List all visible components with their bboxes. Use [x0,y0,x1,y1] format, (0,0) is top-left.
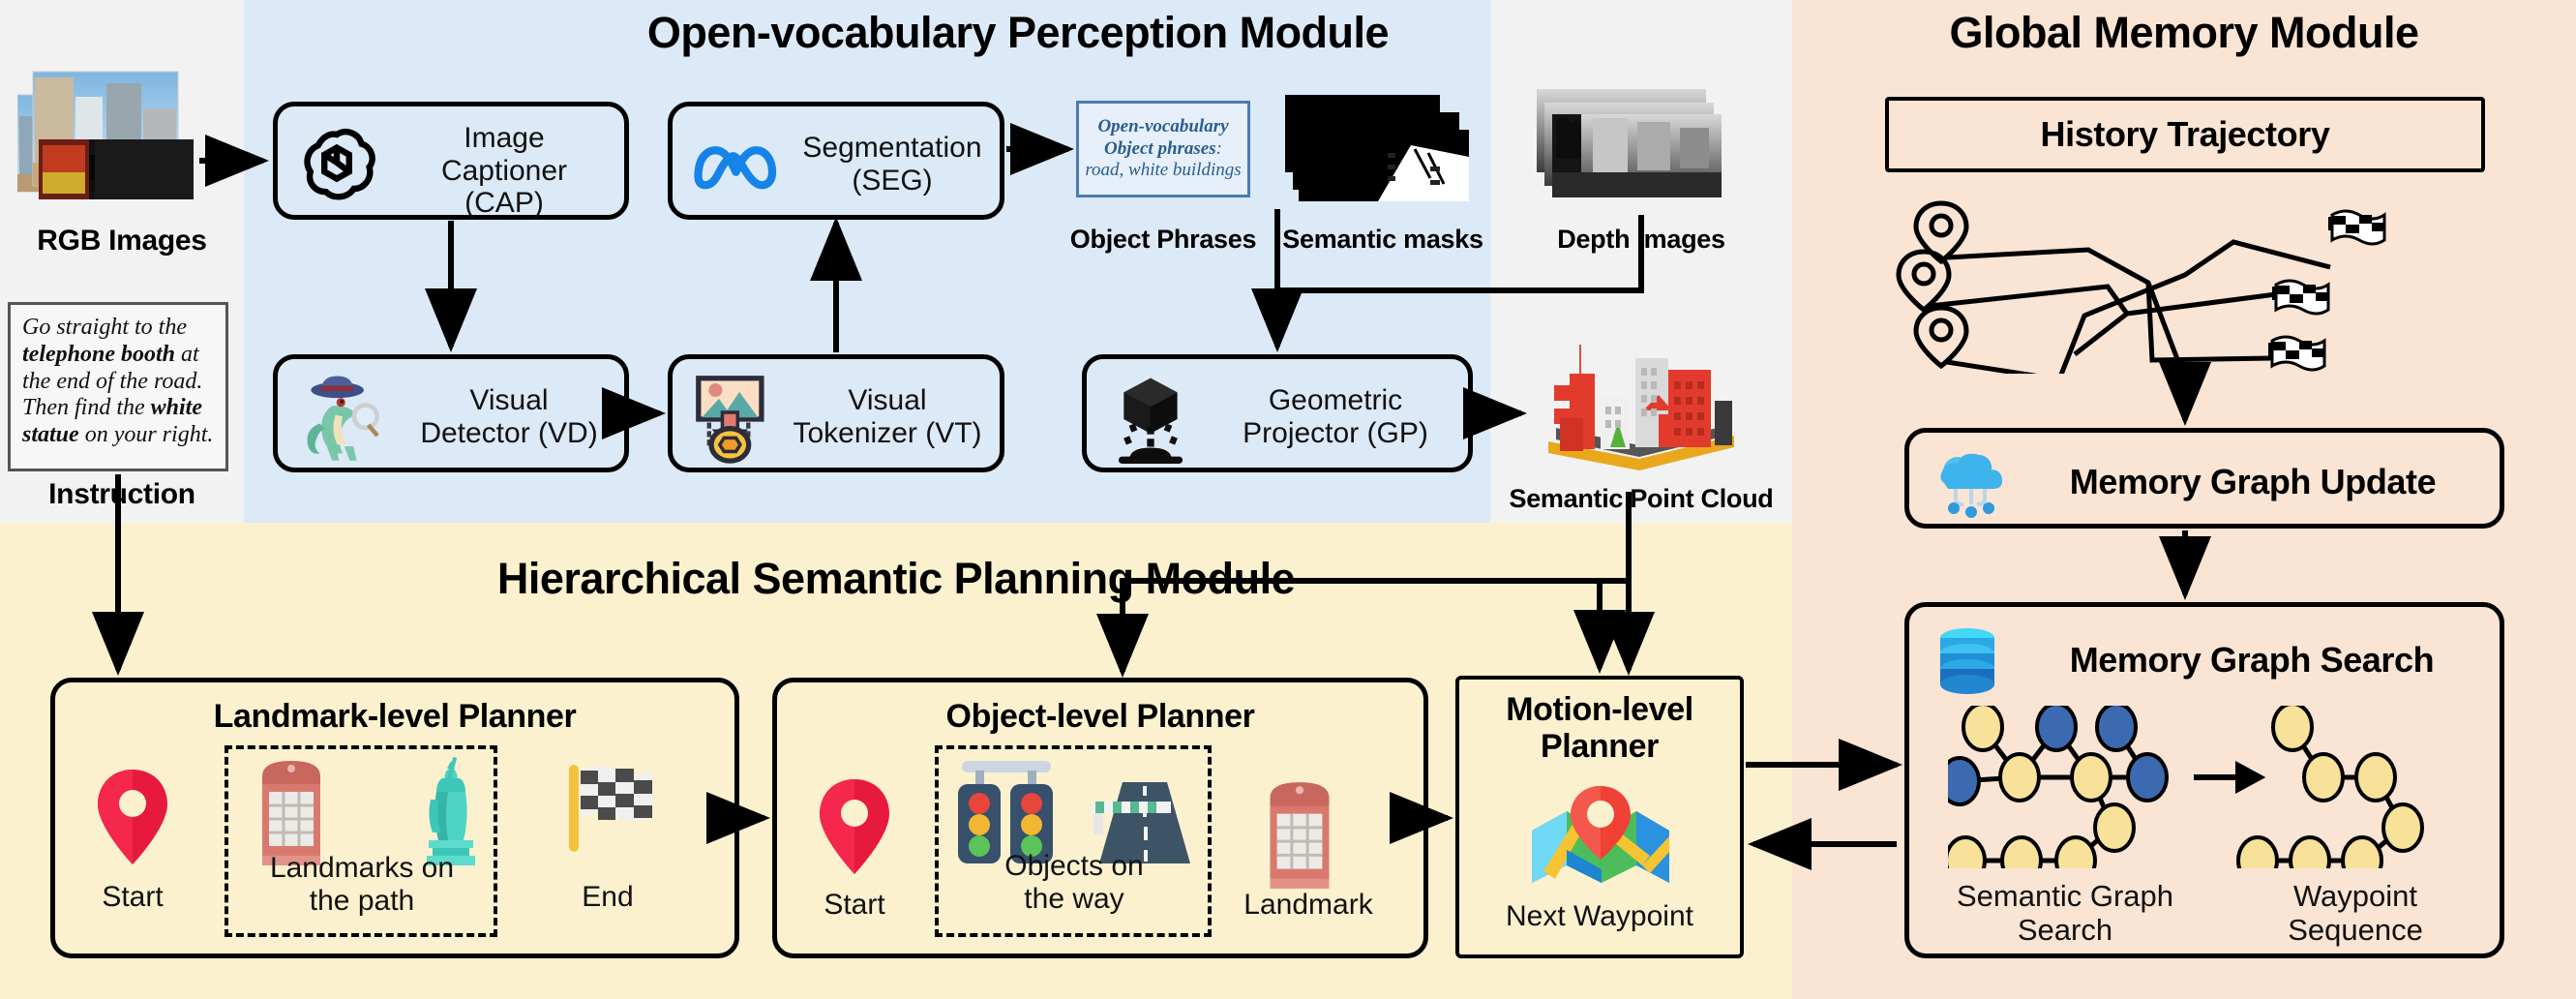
vt-line2: Tokenizer (VT) [773,417,1002,450]
visual-tokenizer-block[interactable]: Visual Tokenizer (VT) [668,354,1004,472]
history-trajectory-box[interactable]: History Trajectory [1885,97,2485,172]
map-pin-icon [91,765,174,871]
memory-graph-update-block[interactable]: Memory Graph Update [1904,428,2504,529]
visual-tokenizer-label: Visual Tokenizer (VT) [773,384,1002,449]
object-phrases-text: Open-vocabularyObject phrases:road, whit… [1085,116,1241,181]
rgb-images-caption: RGB Images [0,225,244,257]
object-phrases-caption: Object Phrases [1055,225,1272,255]
image-captioner-block[interactable]: Image Captioner (CAP) [273,102,629,220]
cloud-upload-icon [1932,446,2010,520]
landmark-planner-title: Landmark-level Planner [55,698,734,736]
objects-on-way-line1: Objects on [943,850,1206,883]
next-waypoint-label: Next Waypoint [1455,900,1744,933]
sgs-line1: Semantic Graph [1944,880,2186,914]
cap-line3: (CAP) [386,187,622,220]
landmark-end-label: End [550,881,666,914]
semantic-graph-search-caption: Semantic Graph Search [1944,880,2186,947]
landmarks-on-path-label: Landmarks on the path [232,852,492,917]
gp-line1: Geometric [1201,384,1470,417]
vd-line2: Detector (VD) [396,417,622,450]
memory-graph-search-block[interactable]: Memory Graph Search [1904,602,2504,958]
wps-line2: Sequence [2234,914,2476,948]
landmark-start-label: Start [72,881,194,914]
semantic-masks-caption: Semantic masks [1275,225,1490,255]
graph-illustration [1948,706,2471,868]
waypoint-sequence-caption: Waypoint Sequence [2234,880,2476,947]
seg-line2: (SEG) [785,165,1000,197]
wps-line1: Waypoint [2234,880,2476,914]
architecture-diagram: Open-vocabulary Perception Module Hierar… [0,0,2576,999]
motion-planner-title-line2: Planner [1459,728,1740,766]
object-start-label: Start [794,889,915,922]
cube-projector-icon [1104,373,1197,466]
visual-detector-block[interactable]: Visual Detector (VD) [273,354,629,472]
motion-planner-title-line1: Motion-level [1459,691,1740,729]
checkered-flag-icon [561,761,658,858]
database-icon [1932,624,2002,698]
cap-line2: Captioner [386,155,622,188]
planning-module-title: Hierarchical Semantic Planning Module [0,554,1792,604]
object-landmark-label: Landmark [1231,889,1386,922]
image-token-icon [688,373,777,466]
geometric-projector-label: Geometric Projector (GP) [1201,384,1470,449]
vt-line1: Visual [773,384,1002,417]
semantic-point-cloud-thumbnail [1527,325,1754,480]
visual-detector-label: Visual Detector (VD) [396,384,622,449]
object-planner-title: Object-level Planner [777,698,1423,736]
depth-images-caption: Depth Images [1529,225,1753,255]
segmentation-block[interactable]: Segmentation (SEG) [668,102,1004,220]
telephone-booth-icon [1256,774,1343,894]
semantic-masks-thumbnail [1285,95,1479,207]
memory-graph-search-label: Memory Graph Search [2010,640,2494,681]
object-phrases-box: Open-vocabularyObject phrases:road, whit… [1076,101,1250,197]
instruction-caption: Instruction [0,478,244,511]
landmarks-on-path-line1: Landmarks on [232,852,492,885]
cap-line1: Image [386,122,622,155]
history-trajectory-label: History Trajectory [1889,114,2481,155]
depth-images-thumbnail [1537,89,1745,205]
objects-on-way-line2: the way [943,883,1206,916]
sgs-line2: Search [1944,914,2186,948]
memory-graph-update-label: Memory Graph Update [2016,462,2490,502]
landmarks-on-path-line2: the path [232,885,492,918]
gp-line2: Projector (GP) [1201,417,1470,450]
perception-module-title: Open-vocabulary Perception Module [244,8,1792,58]
objects-on-way-label: Objects on the way [943,850,1206,915]
lizard-detective-icon [291,369,396,469]
rgb-images-thumbnail [17,58,221,218]
trajectory-sketch [1885,190,2485,374]
vd-line1: Visual [396,384,622,417]
semantic-point-cloud-caption: Semantic Point Cloud [1496,484,1786,514]
instruction-box: Go straight to the telephone booth at th… [8,302,228,471]
memory-module-title: Global Memory Module [1792,8,2576,58]
image-captioner-label: Image Captioner (CAP) [386,122,622,220]
segmentation-label: Segmentation (SEG) [785,132,1000,197]
map-pin-icon [813,774,896,881]
map-with-pin-icon [1525,774,1676,894]
seg-line1: Segmentation [785,132,1000,165]
geometric-projector-block[interactable]: Geometric Projector (GP) [1082,354,1473,472]
instruction-text: Go straight to the telephone booth at th… [22,315,214,449]
meta-logo-icon [690,132,779,199]
openai-logo-icon [295,124,378,207]
